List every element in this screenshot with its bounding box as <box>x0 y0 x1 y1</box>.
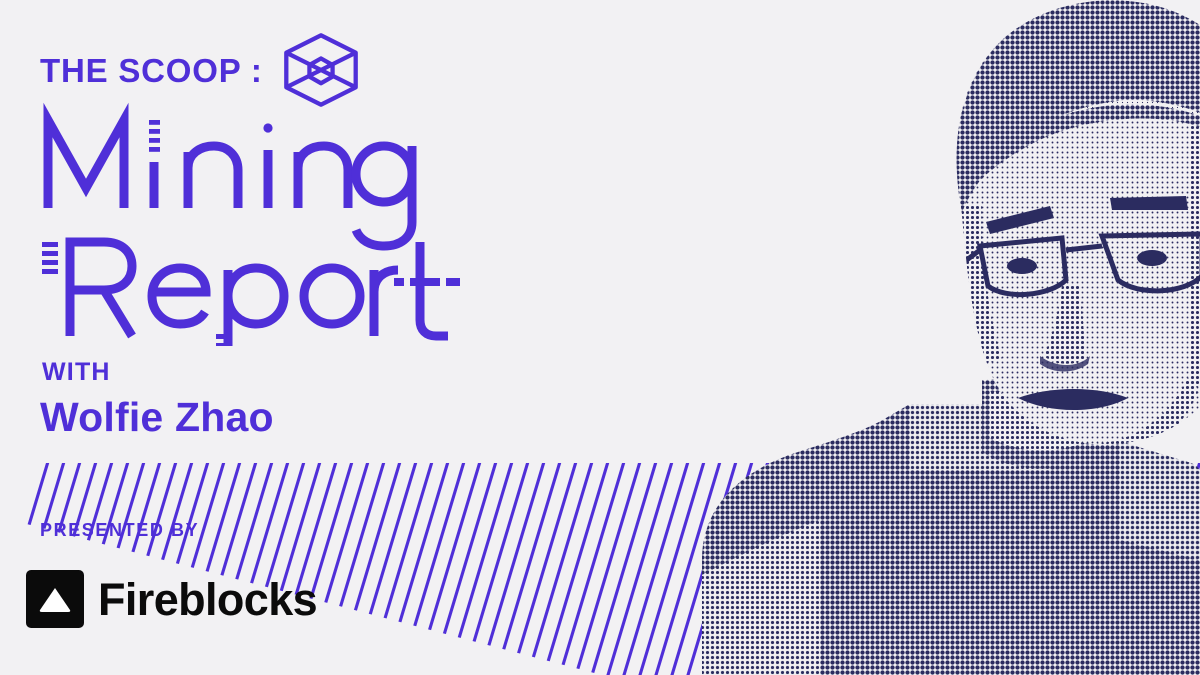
halftone-portrait-svg <box>350 0 1200 675</box>
episode-title-svg <box>30 96 460 346</box>
host-name: Wolfie Zhao <box>40 395 274 440</box>
fireblocks-triangle-icon <box>26 570 84 628</box>
title-block: THE SCOOP : <box>0 0 470 675</box>
title-stripe-accent-r <box>42 242 58 274</box>
show-title: THE SCOOP : <box>40 54 263 87</box>
sponsor-name: Fireblocks <box>98 577 317 622</box>
host-portrait <box>350 0 1200 675</box>
sponsor-row: Fireblocks <box>26 570 317 628</box>
title-stripe-accent-i <box>149 120 160 152</box>
podcast-cover-art: THE SCOOP : <box>0 0 1200 675</box>
presented-by-label: PRESENTED BY <box>40 521 199 539</box>
episode-title <box>30 96 460 346</box>
with-label: WITH <box>42 360 111 385</box>
title-t-crossbar <box>394 278 460 286</box>
